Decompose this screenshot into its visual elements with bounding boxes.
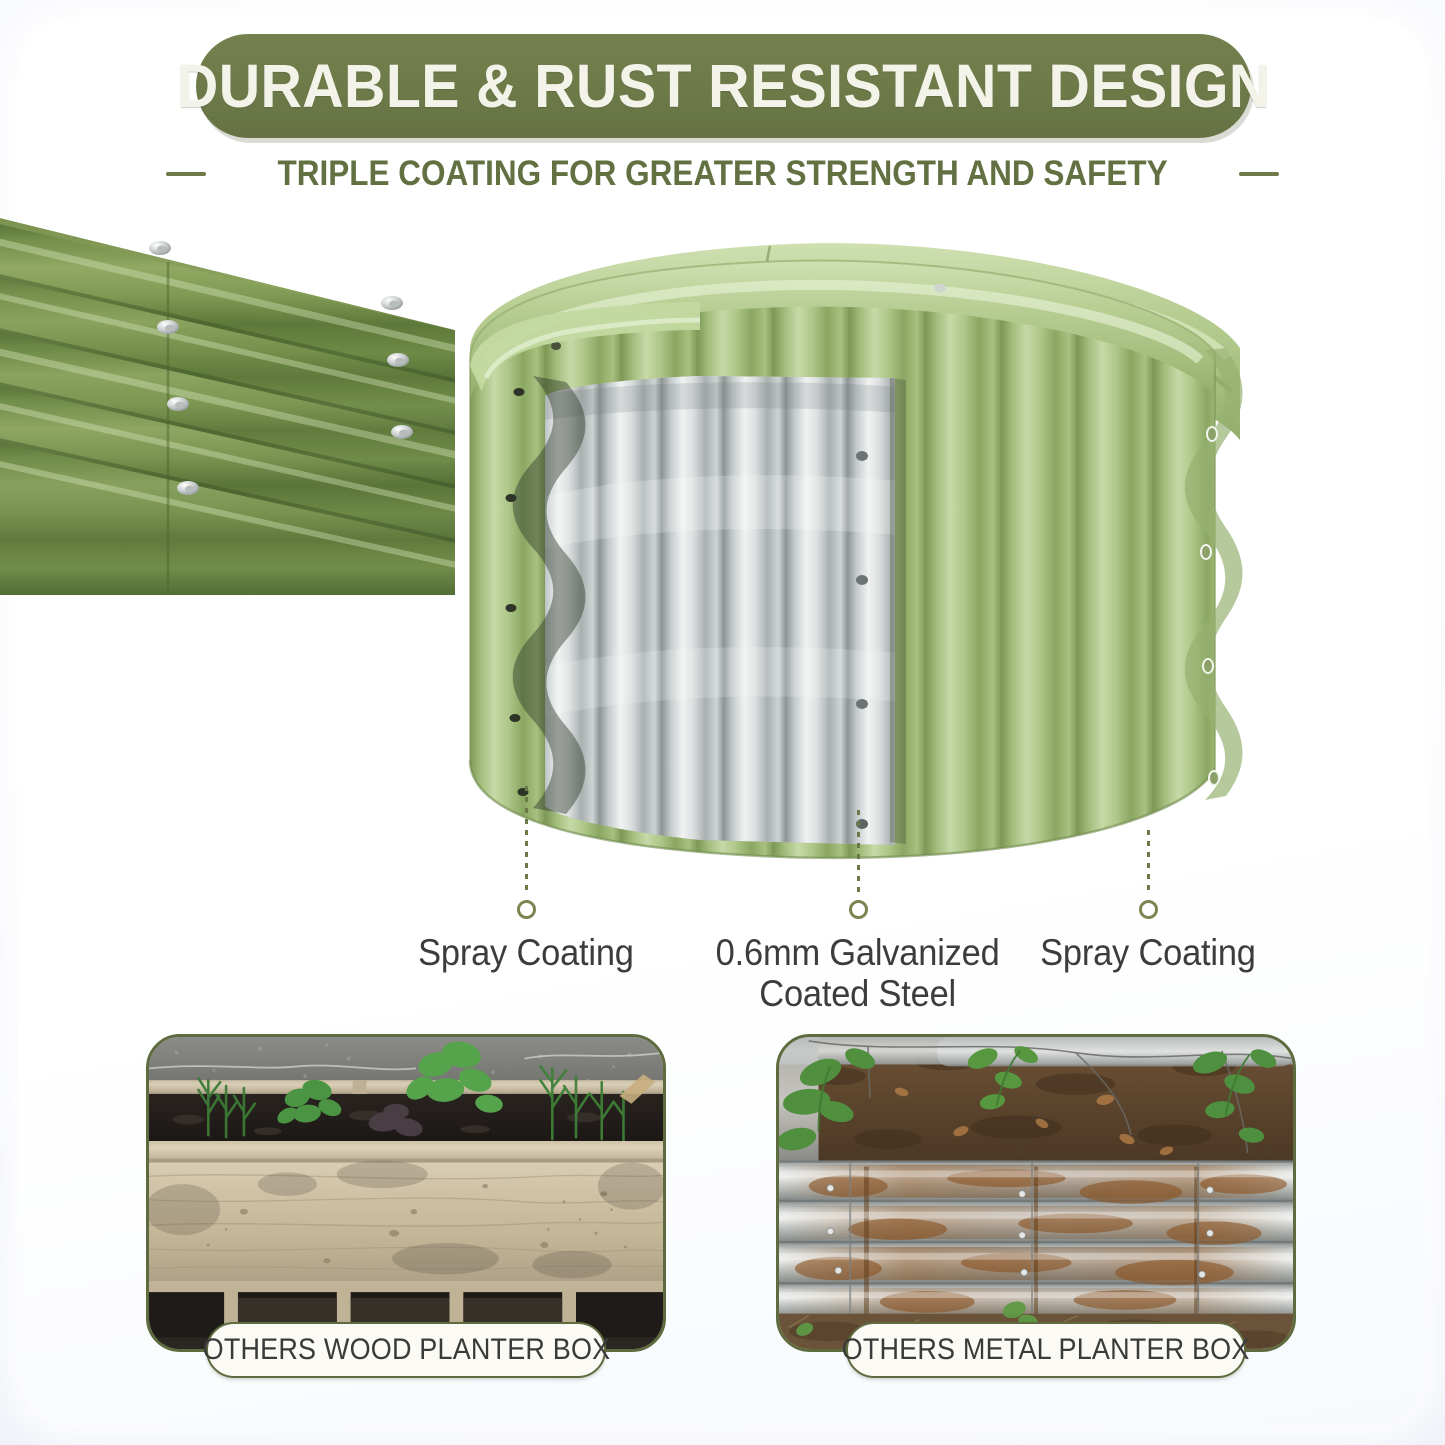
leader-line [525, 786, 528, 896]
callout-label: Spray Coating [418, 932, 634, 973]
dash-right-decoration [1239, 172, 1279, 176]
callout-spray-coating-right: Spray Coating [1018, 830, 1278, 973]
callout-label: Spray Coating [1040, 932, 1256, 973]
caption-label: OTHERS METAL PLANTER BOX [842, 1333, 1250, 1367]
marker-ring-icon [1139, 900, 1158, 919]
marker-ring-icon [517, 900, 536, 919]
leader-line [1147, 830, 1150, 896]
subtitle-row: TRIPLE COATING FOR GREATER STRENGTH AND … [0, 148, 1445, 200]
caption-pill-metal: OTHERS METAL PLANTER BOX [846, 1322, 1246, 1378]
callout-spray-coating-left: Spray Coating [396, 786, 656, 973]
leader-line [857, 810, 860, 896]
page-title: DURABLE & RUST RESISTANT DESIGN [177, 51, 1271, 121]
caption-label: OTHERS WOOD PLANTER BOX [202, 1333, 610, 1367]
page-subtitle: TRIPLE COATING FOR GREATER STRENGTH AND … [277, 154, 1167, 194]
rusty-corrugation [779, 1161, 1293, 1318]
dash-left-decoration [166, 172, 206, 176]
product-illustration [0, 200, 1445, 880]
callout-label: 0.6mm Galvanized Coated Steel [716, 932, 1000, 1015]
header-banner: DURABLE & RUST RESISTANT DESIGN [196, 34, 1251, 138]
infographic-canvas: DURABLE & RUST RESISTANT DESIGN TRIPLE C… [0, 0, 1445, 1445]
marker-ring-icon [849, 900, 868, 919]
callout-galvanized-steel: 0.6mm Galvanized Coated Steel [688, 810, 1028, 1015]
caption-pill-wood: OTHERS WOOD PLANTER BOX [206, 1322, 606, 1378]
comparison-card-metal [776, 1034, 1296, 1352]
comparison-card-wood [146, 1034, 666, 1352]
wood-planter-photo [149, 1037, 663, 1349]
left-corrugated-wall [0, 218, 470, 600]
metal-planter-photo [779, 1037, 1293, 1349]
